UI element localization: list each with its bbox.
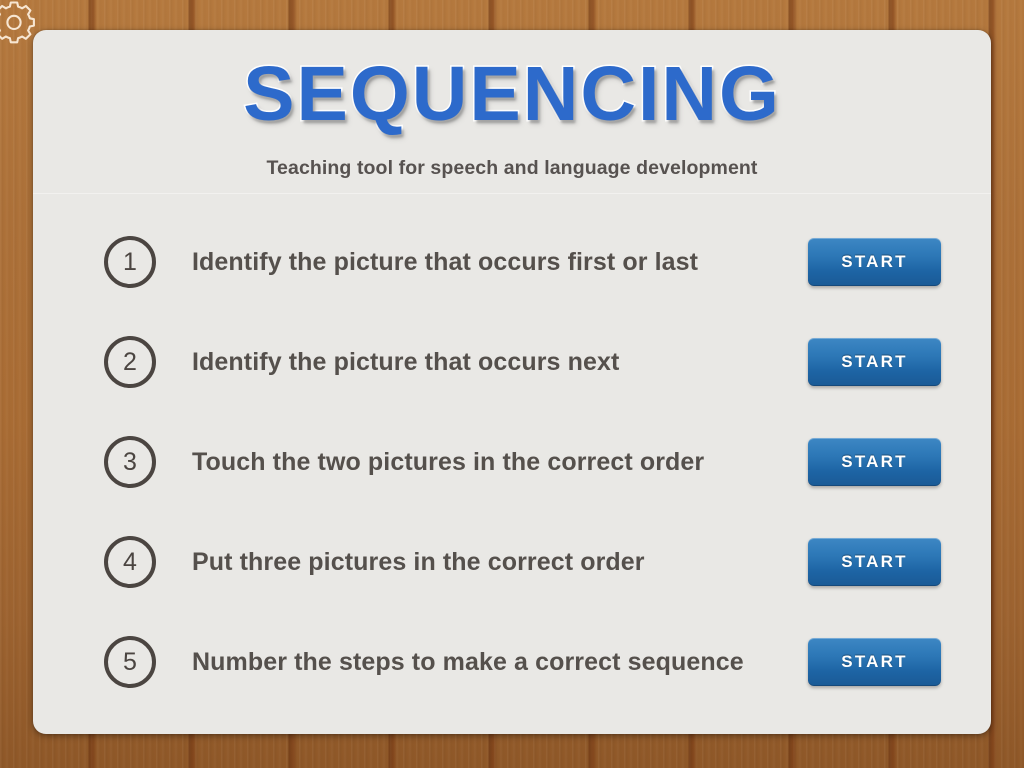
start-button-1[interactable]: START xyxy=(808,238,941,286)
list-item: 1 Identify the picture that occurs first… xyxy=(33,212,991,312)
activity-label: Put three pictures in the correct order xyxy=(192,548,808,577)
activity-label: Touch the two pictures in the correct or… xyxy=(192,448,808,477)
list-item: 4 Put three pictures in the correct orde… xyxy=(33,512,991,612)
start-button-4[interactable]: START xyxy=(808,538,941,586)
gear-icon xyxy=(0,0,42,44)
list-item: 5 Number the steps to make a correct seq… xyxy=(33,612,991,712)
app-window: SEQUENCING Teaching tool for speech and … xyxy=(0,0,1024,768)
activity-number-badge: 2 xyxy=(104,336,156,388)
activity-number-badge: 3 xyxy=(104,436,156,488)
activity-number-badge: 5 xyxy=(104,636,156,688)
settings-gear-button[interactable] xyxy=(0,0,42,44)
activity-number-badge: 4 xyxy=(104,536,156,588)
activity-number-badge: 1 xyxy=(104,236,156,288)
page-subtitle: Teaching tool for speech and language de… xyxy=(33,157,991,180)
start-button-3[interactable]: START xyxy=(808,438,941,486)
start-button-2[interactable]: START xyxy=(808,338,941,386)
list-item: 3 Touch the two pictures in the correct … xyxy=(33,412,991,512)
activity-label: Number the steps to make a correct seque… xyxy=(192,648,808,677)
activity-label: Identify the picture that occurs first o… xyxy=(192,248,808,277)
activity-label: Identify the picture that occurs next xyxy=(192,348,808,377)
page-title: SEQUENCING xyxy=(33,56,991,133)
list-item: 2 Identify the picture that occurs next … xyxy=(33,312,991,412)
main-card: SEQUENCING Teaching tool for speech and … xyxy=(33,30,991,734)
activity-list: 1 Identify the picture that occurs first… xyxy=(33,194,991,712)
header: SEQUENCING Teaching tool for speech and … xyxy=(33,30,991,194)
start-button-5[interactable]: START xyxy=(808,638,941,686)
